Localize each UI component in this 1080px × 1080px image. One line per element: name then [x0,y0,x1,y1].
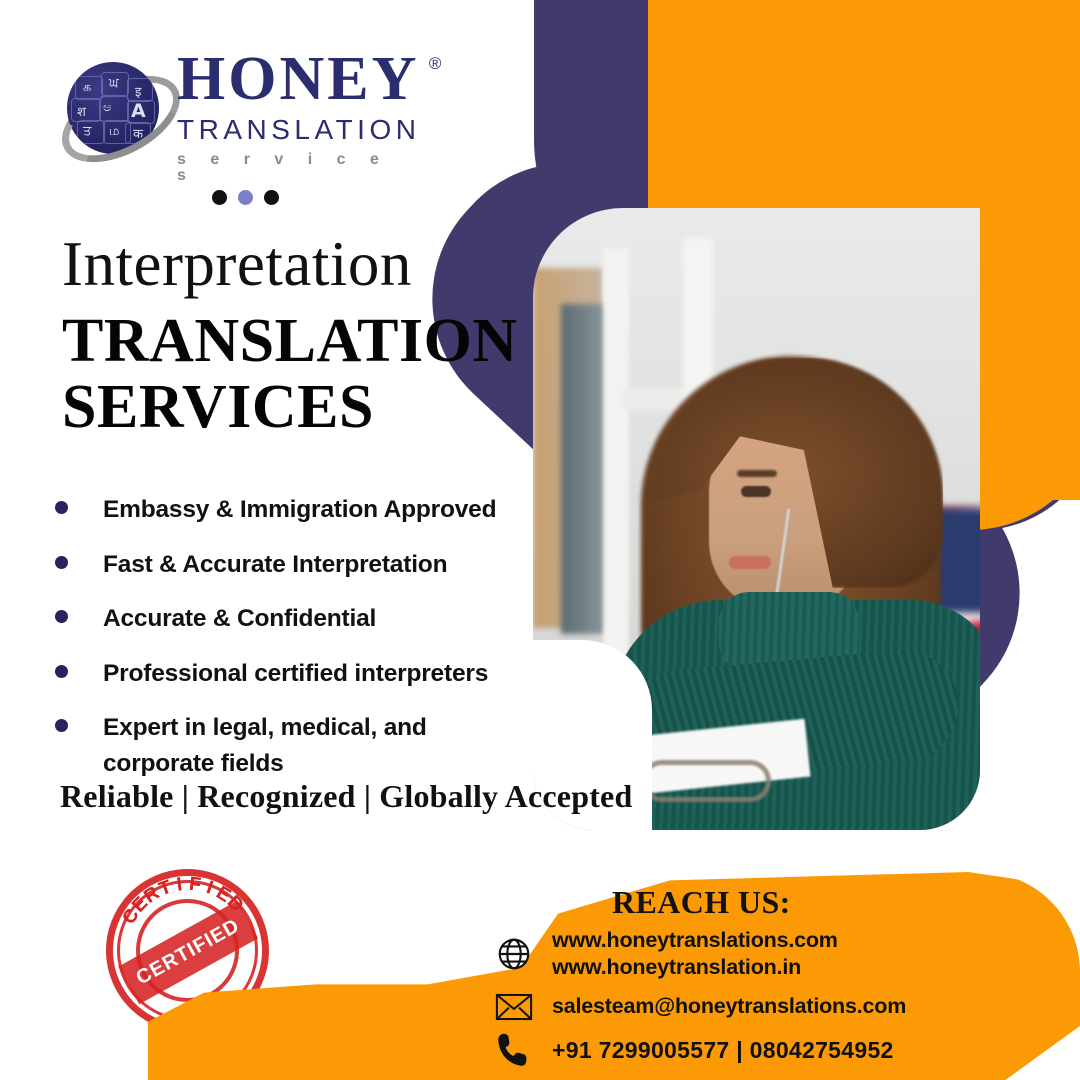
photo-shelf-detail [561,304,609,634]
photo-eyeglasses [641,760,771,802]
website-urls[interactable]: www.honeytranslations.com www.honeytrans… [552,927,838,982]
logo-dot-2 [238,190,253,205]
headline-main-line-1: TRANSLATION [62,308,518,374]
headline-script-line: Interpretation [62,233,518,296]
list-item: Expert in legal, medical, and corporate … [55,710,535,781]
logo-brand-name: HONEY [177,45,419,113]
photo-eye [741,486,771,497]
bullet-label: Fast & Accurate Interpretation [103,547,447,583]
logo-dot-3 [264,190,279,205]
bullet-dot-icon [55,719,68,732]
logo-line-translation: TRANSLATION [177,116,420,144]
envelope-icon [492,992,536,1022]
contact-row-website[interactable]: www.honeytranslations.com www.honeytrans… [492,927,1052,982]
tagline: Reliable | Recognized | Globally Accepte… [60,778,632,815]
stamp-arc-char: I [203,877,215,900]
logo-line-services: s e r v i c e s [177,152,420,184]
phone-numbers[interactable]: +91 7299005577 | 08042754952 [552,1036,894,1065]
contact-row-phone[interactable]: +91 7299005577 | 08042754952 [492,1032,1052,1070]
photo-shelf-detail [603,248,629,668]
poster-canvas: க ਘ इ श ಅ A ਤ ம क HONEY ® TRANSLATION s … [0,0,1080,1080]
stamp-arc-char: I [175,874,183,896]
bullet-dot-icon [55,665,68,678]
bullet-label: Embassy & Immigration Approved [103,492,496,528]
list-item: Accurate & Confidential [55,601,535,637]
footer-heading: REACH US: [612,884,791,921]
bullet-label: Accurate & Confidential [103,601,376,637]
photo-eyebrow [737,470,777,477]
list-item: Fast & Accurate Interpretation [55,547,535,583]
contact-row-email[interactable]: salesteam@honeytranslations.com [492,992,1052,1022]
headline-main-line-2: SERVICES [62,374,518,440]
bullet-label: Expert in legal, medical, and corporate … [103,710,463,781]
bullet-dot-icon [55,556,68,569]
list-item: Embassy & Immigration Approved [55,492,535,528]
email-address[interactable]: salesteam@honeytranslations.com [552,993,906,1020]
website-url-1[interactable]: www.honeytranslations.com [552,928,838,952]
logo-dot-1 [212,190,227,205]
bullet-dot-icon [55,501,68,514]
bullet-label: Professional certified interpreters [103,656,488,692]
list-item: Professional certified interpreters [55,656,535,692]
stamp-arc-char: F [187,873,201,896]
website-url-2[interactable]: www.honeytranslation.in [552,955,801,979]
logo-globe-icon: க ਘ इ श ಅ A ਤ ம क [55,54,173,172]
phone-icon [492,1032,536,1070]
logo-wordmark: HONEY ® TRANSLATION s e r v i c e s [177,48,420,184]
registered-trademark-icon: ® [429,54,442,74]
headline-main-line: TRANSLATION SERVICES [62,308,518,441]
feature-bullet-list: Embassy & Immigration Approved Fast & Ac… [55,492,535,800]
photo-lips [729,556,771,569]
headline-group: Interpretation TRANSLATION SERVICES [62,233,518,441]
bullet-dot-icon [55,610,68,623]
contact-list: www.honeytranslations.com www.honeytrans… [492,927,1052,1080]
hero-photo-interpreter [533,208,980,830]
logo-dot-separator [212,190,279,205]
logo-script-char: க [83,80,91,96]
globe-icon [492,935,536,973]
